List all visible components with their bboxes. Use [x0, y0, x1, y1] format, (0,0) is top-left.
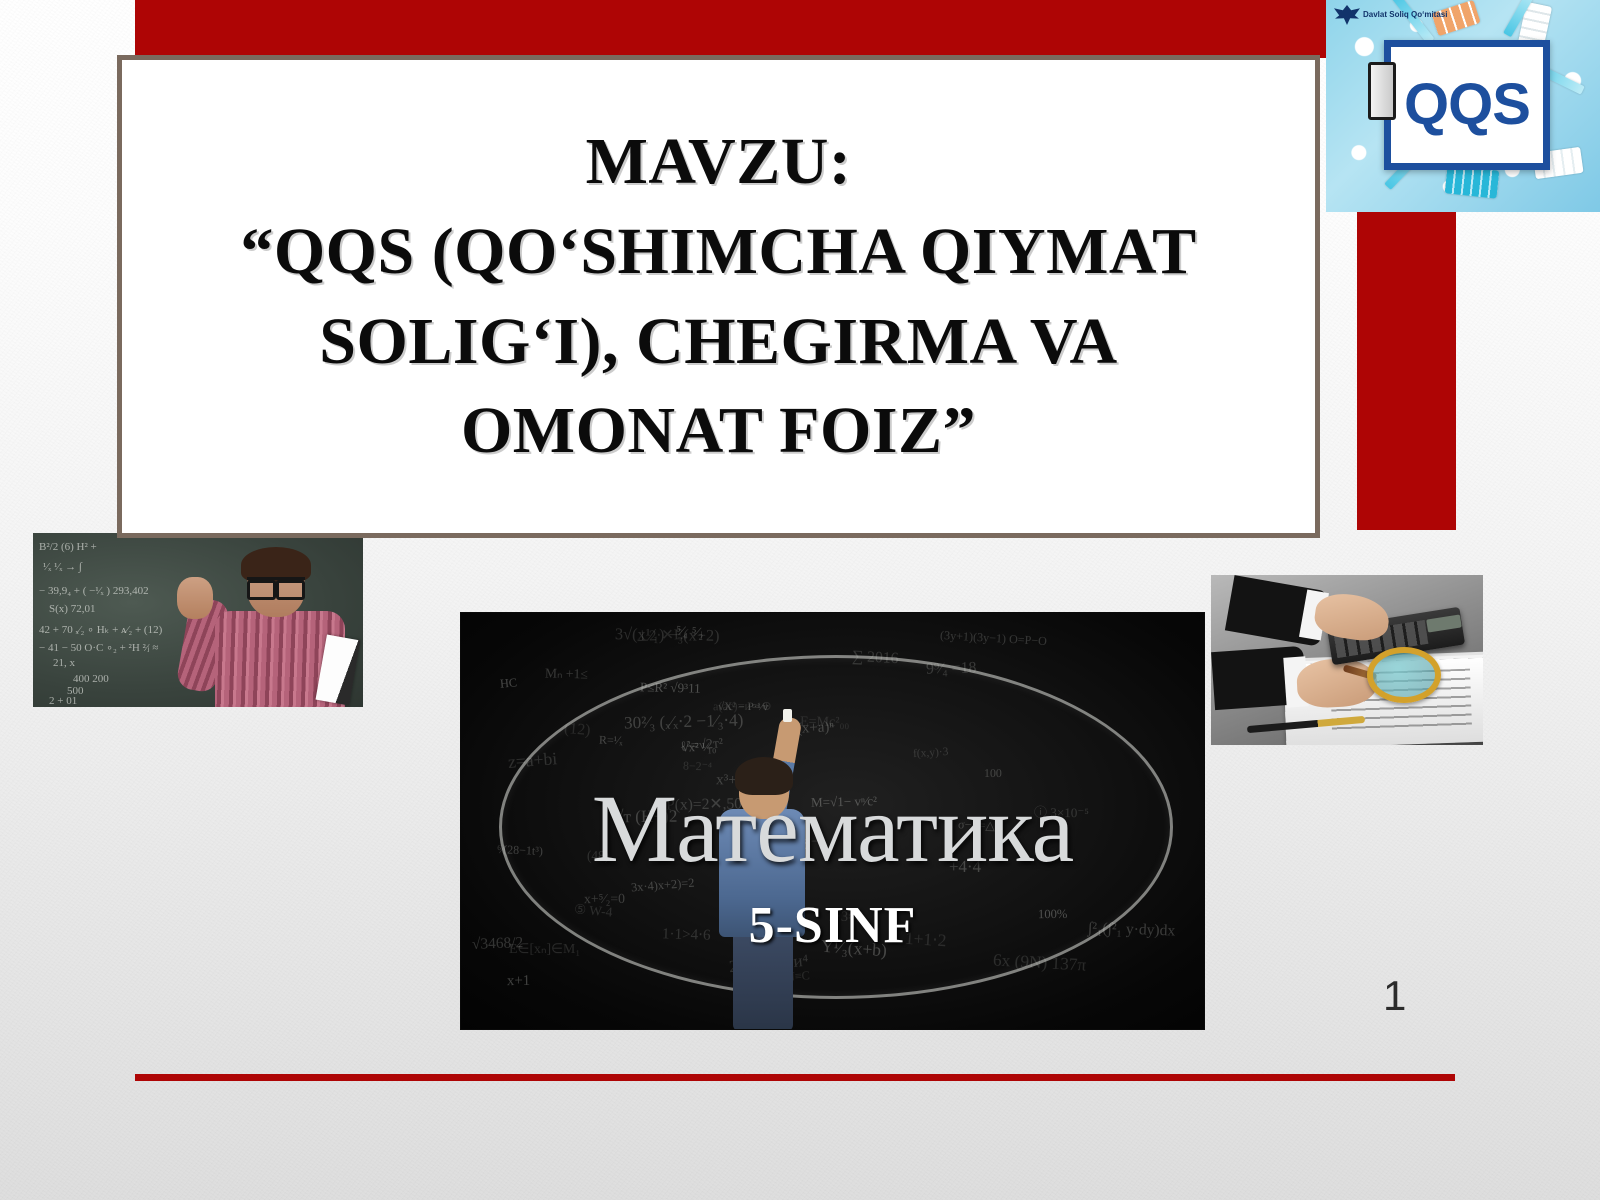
title-line-3: SOLIG‘I), CHEGIRMA VA: [240, 297, 1196, 387]
chalk-formula: S(x) 72,01: [49, 603, 95, 615]
red-accent-bar-top: [135, 0, 1456, 58]
grade-level-label: 5-SINF: [461, 896, 1204, 955]
qqs-wordmark: QQS: [1404, 76, 1530, 134]
slide-title: MAVZU: “QQS (QO‘SHIMCHA QIYMAT SOLIG‘I),…: [216, 117, 1220, 476]
page-number: 1: [1383, 972, 1406, 1020]
tax-committee-emblem: Davlat Soliq Qo‘mitasi: [1334, 5, 1447, 25]
mathematics-blackboard-photo: 1+1⋅2x+⁵⁄₂=0x·3=5√3468/2z=a+biσ−P=△HC∫²₁…: [460, 612, 1205, 1030]
red-accent-rule-bottom: [135, 1074, 1455, 1081]
red-accent-block-right: [1357, 212, 1456, 530]
pill-blister-cyan: [1445, 165, 1500, 198]
matematika-wordmark: Математика: [461, 781, 1204, 877]
chalk-formula: 400 200: [73, 673, 109, 685]
chalk-formula: 21, x: [53, 657, 75, 669]
accountant-calculator-photo: [1211, 575, 1483, 745]
title-line-4: OMONAT FOIZ”: [240, 386, 1196, 476]
chalk-formula: ¹⁄ₓ ¹⁄ₓ → ∫: [43, 561, 82, 573]
clipboard: QQS: [1384, 40, 1550, 170]
teacher-hand-ok-gesture: [177, 577, 213, 619]
clipboard-clip: [1368, 62, 1396, 120]
blackboard-formula: x+1: [507, 973, 530, 990]
chalk-formula: 2 + 01: [49, 695, 77, 707]
chalk-formula: B²/2 (6) H² +: [39, 541, 97, 553]
blackboard-formula: 3√(x¹⁄₁) −₃(x+2): [615, 624, 720, 646]
title-line-2: “QQS (QO‘SHIMCHA QIYMAT: [240, 207, 1196, 297]
qqs-pills-clipboard-photo: QQS Davlat Soliq Qo‘mitasi: [1326, 0, 1600, 212]
magnifying-glass-icon: [1367, 647, 1441, 703]
presentation-slide: MAVZU: “QQS (QO‘SHIMCHA QIYMAT SOLIG‘I),…: [0, 0, 1600, 1200]
blackboard-formula: (3y+1)(3y−1) O=P−O: [940, 628, 1048, 649]
title-line-1: MAVZU:: [240, 117, 1196, 207]
blackboard-formula: HC: [499, 675, 517, 691]
chalk-piece: [783, 709, 792, 722]
chalk-formula: − 39,9₄ + ( −¹⁄ₓ ) 293,402: [39, 585, 149, 597]
title-card: MAVZU: “QQS (QO‘SHIMCHA QIYMAT SOLIG‘I),…: [117, 55, 1320, 538]
emblem-label: Davlat Soliq Qo‘mitasi: [1363, 11, 1447, 19]
blackboard-formula: Mₙ +1≤: [545, 666, 588, 683]
eagle-icon: [1334, 5, 1360, 25]
chalk-formula: − 41 − 50 O·C ∘₂ + ²H ²⁄ⱼ ≈: [39, 641, 158, 654]
chalk-formula: 42 + 70 ₓ⁄₂ ∘ Hₖ + ᴀ⁄₂ + (12): [39, 623, 162, 636]
teacher-chalkboard-photo: B²/2 (6) H² + ¹⁄ₓ ¹⁄ₓ → ∫ − 39,9₄ + ( −¹…: [33, 533, 363, 707]
blackboard-formula: ⁵⁄₄ ⁵⁄₂: [675, 624, 704, 642]
glasses-icon: [247, 577, 305, 595]
